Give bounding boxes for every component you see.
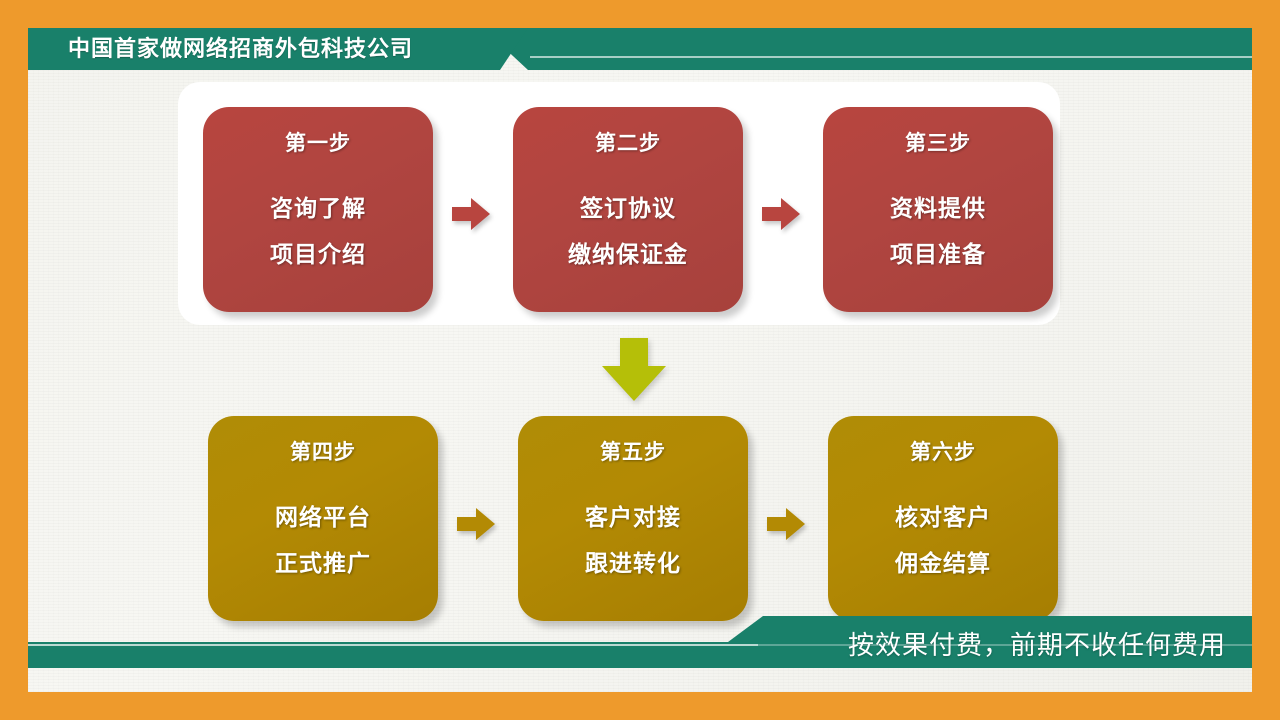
step-card-5-title: 第五步: [518, 438, 748, 468]
step-card-2-line2: 缴纳保证金: [513, 231, 743, 277]
step-card-6-line1: 核对客户: [828, 494, 1058, 540]
step-card-3-body: 资料提供 项目准备: [823, 185, 1053, 277]
slide-paper-background: 中国首家做网络招商外包科技公司 第一步 咨询了解 项目介绍 第二步 签订协议 缴…: [28, 28, 1252, 692]
step-card-3-line1: 资料提供: [823, 185, 1053, 231]
arrow-right-icon: [767, 506, 805, 542]
step-card-2-line1: 签订协议: [513, 185, 743, 231]
step-card-1-body: 咨询了解 项目介绍: [203, 185, 433, 277]
step-card-3-line2: 项目准备: [823, 231, 1053, 277]
step-card-1-line2: 项目介绍: [203, 231, 433, 277]
step-card-2-body: 签订协议 缴纳保证金: [513, 185, 743, 277]
step-card-2[interactable]: 第二步 签订协议 缴纳保证金: [513, 107, 743, 312]
slide-canvas: 中国首家做网络招商外包科技公司 第一步 咨询了解 项目介绍 第二步 签订协议 缴…: [0, 0, 1280, 720]
step-card-4-title: 第四步: [208, 438, 438, 468]
step-card-4[interactable]: 第四步 网络平台 正式推广: [208, 416, 438, 621]
step-card-5-line1: 客户对接: [518, 494, 748, 540]
step-card-1[interactable]: 第一步 咨询了解 项目介绍: [203, 107, 433, 312]
footer-tagline: 按效果付费，前期不收任何费用: [848, 625, 1226, 662]
page-title: 中国首家做网络招商外包科技公司: [68, 30, 413, 68]
step-card-4-body: 网络平台 正式推广: [208, 494, 438, 586]
arrow-down-icon: [602, 338, 666, 401]
step-card-5[interactable]: 第五步 客户对接 跟进转化: [518, 416, 748, 621]
step-card-2-title: 第二步: [513, 129, 743, 159]
step-card-6-title: 第六步: [828, 438, 1058, 468]
arrow-right-icon: [452, 196, 490, 232]
step-card-6-body: 核对客户 佣金结算: [828, 494, 1058, 586]
footer-hairline-divider: [28, 644, 758, 646]
arrow-right-icon: [762, 196, 800, 232]
step-card-4-line1: 网络平台: [208, 494, 438, 540]
step-card-4-line2: 正式推广: [208, 540, 438, 586]
step-card-3[interactable]: 第三步 资料提供 项目准备: [823, 107, 1053, 312]
header-hairline-divider: [530, 56, 1252, 58]
step-card-3-title: 第三步: [823, 129, 1053, 159]
step-card-1-line1: 咨询了解: [203, 185, 433, 231]
step-card-5-body: 客户对接 跟进转化: [518, 494, 748, 586]
step-card-6[interactable]: 第六步 核对客户 佣金结算: [828, 416, 1058, 621]
arrow-right-icon: [457, 506, 495, 542]
step-card-6-line2: 佣金结算: [828, 540, 1058, 586]
step-card-1-title: 第一步: [203, 129, 433, 159]
step-card-5-line2: 跟进转化: [518, 540, 748, 586]
